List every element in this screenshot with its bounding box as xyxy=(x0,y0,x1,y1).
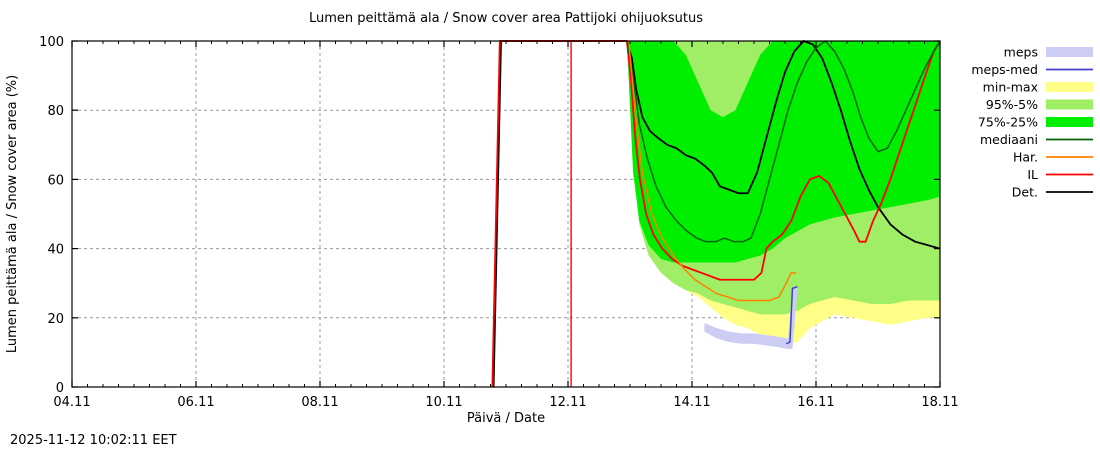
legend-label-95%-5%: 95%-5% xyxy=(986,97,1038,112)
x-tick-label: 06.11 xyxy=(177,395,214,410)
legend-label-meps: meps xyxy=(1004,45,1038,60)
legend-swatch-meps xyxy=(1046,47,1093,57)
timestamp-label: 2025-11-12 10:02:11 EET xyxy=(10,433,177,448)
y-tick-label: 40 xyxy=(47,243,64,258)
legend-label-75%-25%: 75%-25% xyxy=(978,115,1038,130)
x-tick-label: 04.11 xyxy=(53,395,90,410)
chart-title: Lumen peittämä ala / Snow cover area Pat… xyxy=(309,11,703,26)
x-tick-label: 18.11 xyxy=(921,395,958,410)
legend-label-Har.: Har. xyxy=(1013,150,1038,165)
x-tick-label: 12.11 xyxy=(549,395,586,410)
legend-swatch-95%-5% xyxy=(1046,100,1093,110)
legend-swatch-75%-25% xyxy=(1046,117,1093,127)
y-tick-label: 0 xyxy=(56,381,64,396)
x-axis-title: Päivä / Date xyxy=(467,411,545,426)
legend-label-min-max: min-max xyxy=(983,80,1038,95)
x-tick-label: 08.11 xyxy=(301,395,338,410)
chart-figure: Lumen peittämä ala / Snow cover area Pat… xyxy=(0,0,1100,450)
x-tick-label: 14.11 xyxy=(673,395,710,410)
x-tick-label: 16.11 xyxy=(797,395,834,410)
x-tick-label: 10.11 xyxy=(425,395,462,410)
y-tick-label: 60 xyxy=(47,173,64,188)
y-tick-label: 80 xyxy=(47,104,64,119)
legend-label-meps-med: meps-med xyxy=(971,62,1038,77)
legend-label-mediaani: mediaani xyxy=(980,132,1038,147)
plot-area xyxy=(72,41,940,387)
legend-swatch-min-max xyxy=(1046,82,1093,92)
y-tick-label: 20 xyxy=(47,312,64,327)
legend-label-IL: IL xyxy=(1027,167,1038,182)
y-tick-label: 100 xyxy=(39,35,64,50)
y-axis-title: Lumen peittämä ala / Snow cover area (%) xyxy=(5,75,20,353)
legend-label-Det.: Det. xyxy=(1012,185,1038,200)
